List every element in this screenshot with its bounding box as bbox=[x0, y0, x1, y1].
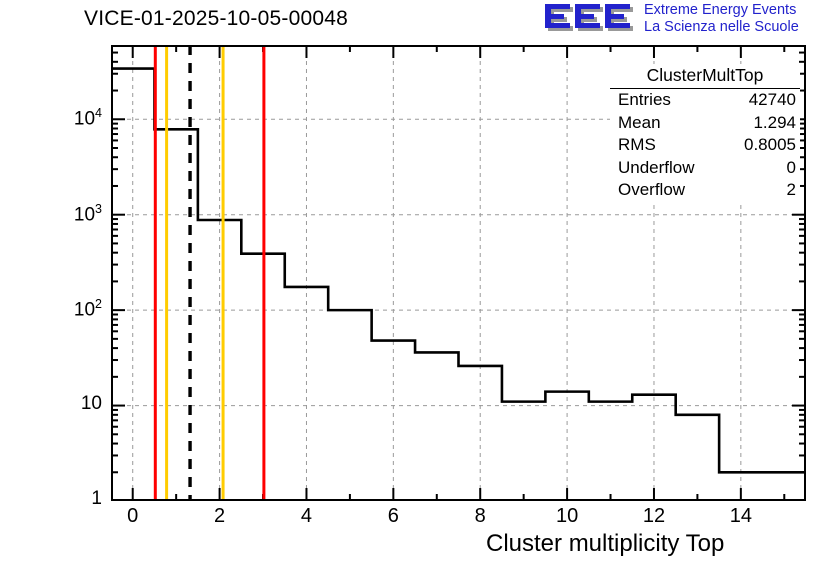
eee-letters-icon bbox=[540, 2, 640, 36]
x-tick-label: 0 bbox=[113, 505, 153, 528]
y-tick-label: 103 bbox=[40, 202, 102, 226]
eee-logo-text: Extreme Energy Events La Scienza nelle S… bbox=[644, 2, 834, 36]
stats-key: RMS bbox=[618, 135, 656, 156]
x-tick-label: 14 bbox=[721, 505, 761, 528]
stats-row: Entries42740 bbox=[610, 89, 800, 112]
stats-row: RMS0.8005 bbox=[610, 134, 800, 157]
stats-key: Overflow bbox=[618, 180, 685, 201]
y-tick-label: 1 bbox=[40, 488, 102, 510]
y-tick-label: 10 bbox=[40, 393, 102, 415]
stats-row: Underflow0 bbox=[610, 157, 800, 180]
stats-value: 1.294 bbox=[753, 113, 796, 134]
y-tick-label: 104 bbox=[40, 106, 102, 130]
y-tick-label: 102 bbox=[40, 297, 102, 321]
eee-tagline-2: La Scienza nelle Scuole bbox=[644, 19, 834, 36]
stats-value: 0 bbox=[787, 158, 796, 179]
eee-logo: Extreme Energy Events La Scienza nelle S… bbox=[540, 2, 832, 38]
x-axis-title: Cluster multiplicity Top bbox=[486, 530, 724, 558]
x-tick-label: 4 bbox=[286, 505, 326, 528]
stats-key: Mean bbox=[618, 113, 661, 134]
eee-tagline-1: Extreme Energy Events bbox=[644, 2, 834, 19]
stats-row: Mean1.294 bbox=[610, 112, 800, 135]
stats-box: ClusterMultTop Entries42740Mean1.294RMS0… bbox=[610, 64, 800, 202]
stats-title: ClusterMultTop bbox=[610, 64, 800, 89]
stats-key: Underflow bbox=[618, 158, 695, 179]
x-tick-label: 12 bbox=[634, 505, 674, 528]
stats-row: Overflow2 bbox=[610, 179, 800, 202]
x-tick-label: 2 bbox=[200, 505, 240, 528]
page-title: VICE-01-2025-10-05-00048 bbox=[84, 7, 348, 31]
histogram-canvas: VICE-01-2025-10-05-00048 bbox=[0, 0, 836, 572]
x-tick-label: 6 bbox=[373, 505, 413, 528]
stats-key: Entries bbox=[618, 90, 671, 111]
stats-value: 2 bbox=[787, 180, 796, 201]
stats-value: 42740 bbox=[749, 90, 796, 111]
x-tick-label: 10 bbox=[547, 505, 587, 528]
stats-value: 0.8005 bbox=[744, 135, 796, 156]
x-tick-label: 8 bbox=[460, 505, 500, 528]
